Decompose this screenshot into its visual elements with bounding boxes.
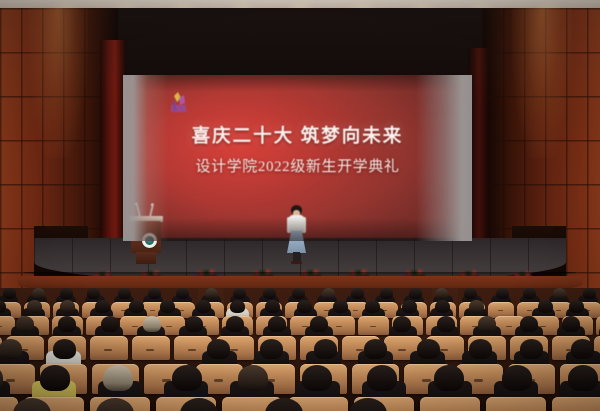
audience-member-head (172, 365, 202, 391)
audience-member-head (437, 316, 455, 332)
audience-member-head (118, 288, 131, 299)
audience-member-head (417, 339, 440, 359)
audience-member-head (367, 365, 397, 391)
podium-front-panel (131, 221, 161, 253)
audience-member-head (409, 288, 422, 299)
audience-member-head (87, 288, 100, 299)
audience-member-head (233, 288, 246, 299)
female-presenter (284, 205, 308, 265)
audience-member-head (268, 316, 286, 332)
audience-member-head (469, 339, 492, 359)
audience-member-head (230, 300, 245, 313)
audience-member-head (0, 339, 22, 359)
audience-member-head (205, 288, 218, 299)
audience-member-head (351, 288, 364, 299)
audience-seating (0, 288, 600, 411)
audience-member-head (562, 316, 580, 332)
audience-member-head (568, 365, 598, 391)
auditorium-seat[interactable] (486, 397, 546, 411)
audience-member-head (260, 339, 283, 359)
slide-subheadline: 设计学院2022级新生开学典礼 (123, 155, 472, 176)
auditorium-seat[interactable] (90, 336, 128, 360)
auditorium-seat[interactable] (552, 397, 600, 411)
audience-member-head (265, 300, 280, 313)
audience-member-head (365, 300, 380, 313)
audience-member-head (571, 339, 594, 359)
audience-member-head (60, 300, 75, 313)
audience-member-head (176, 288, 189, 299)
audience-member-head (185, 316, 203, 332)
audience-member-head (464, 288, 477, 299)
audience-member-head (569, 300, 584, 313)
speaker-podium (128, 216, 164, 264)
audience-member-head (292, 288, 305, 299)
audience-member-head (314, 339, 337, 359)
audience-member-head (402, 300, 417, 313)
audience-member-head (393, 316, 411, 332)
audience-member-head (27, 300, 42, 313)
podium-emblem-crest (145, 236, 154, 245)
audience-member-head (103, 365, 133, 391)
audience-member-head (297, 300, 312, 313)
podium-emblem (142, 233, 157, 248)
audience-member-head (435, 300, 450, 313)
audience-member-head (496, 288, 509, 299)
audience-member-head (520, 339, 543, 359)
auditorium-photo: 喜庆二十大 筑梦向未来 设计学院2022级新生开学典礼 (0, 0, 600, 411)
audience-member-head (148, 288, 161, 299)
audience-member-head (207, 339, 230, 359)
audience-member-head (322, 288, 335, 299)
audience-member-head (523, 288, 536, 299)
audience-member-head (3, 288, 16, 299)
audience-member-head (101, 316, 119, 332)
audience-member-head (520, 316, 538, 332)
audience-member-head (58, 316, 76, 332)
auditorium-seat[interactable] (132, 336, 170, 360)
audience-member-head (302, 365, 332, 391)
audience-member-head (333, 300, 348, 313)
slide-headline: 喜庆二十大 筑梦向未来 (123, 122, 472, 148)
audience-member-head (129, 300, 144, 313)
audience-member-head (95, 300, 110, 313)
audience-member-head (538, 300, 553, 313)
audience-member-head (143, 316, 161, 332)
audience-member-head (583, 288, 596, 299)
audience-member-head (263, 288, 276, 299)
audience-member-head (380, 288, 393, 299)
audience-member-head (469, 300, 484, 313)
audience-member-head (502, 365, 532, 391)
presenter-blouse (289, 215, 304, 233)
institution-logo-icon (165, 89, 193, 115)
audience-member-head (32, 288, 45, 299)
audience-member-head (160, 300, 175, 313)
audience-member-head (553, 288, 566, 299)
audience-member-head (238, 365, 268, 391)
audience-member-head (196, 300, 211, 313)
audience-member-head (16, 316, 34, 332)
audience-member-head (310, 316, 328, 332)
audience-member-head (60, 288, 73, 299)
audience-member-head (40, 365, 70, 391)
audience-member-head (226, 316, 244, 332)
auditorium-seat[interactable] (358, 316, 389, 335)
audience-member-head (435, 288, 448, 299)
presenter-skirt (287, 231, 306, 253)
audience-member-head (434, 365, 464, 391)
auditorium-seat[interactable] (420, 397, 480, 411)
audience-member-head (364, 339, 387, 359)
podium-base (136, 252, 156, 264)
audience-member-head (478, 316, 496, 332)
audience-member-head (53, 339, 76, 359)
